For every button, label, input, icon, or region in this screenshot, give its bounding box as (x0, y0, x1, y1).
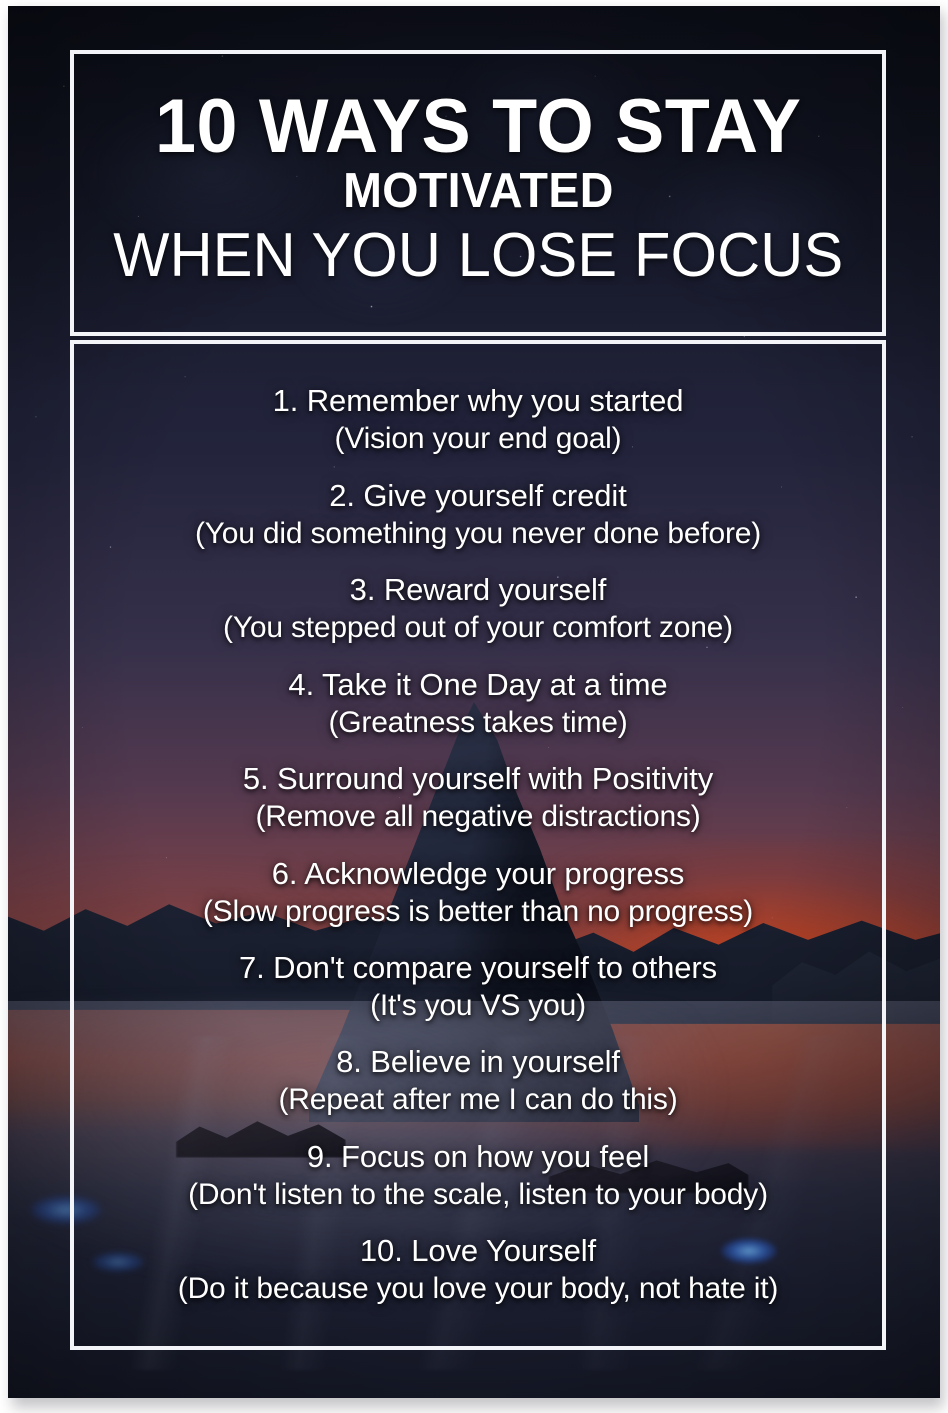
tips-list: 1. Remember why you started (Vision your… (74, 344, 882, 1346)
list-item: 1. Remember why you started (Vision your… (88, 381, 868, 458)
tip-subtext: (Don't listen to the scale, listen to yo… (88, 1176, 868, 1214)
tip-headline: 6. Acknowledge your progress (88, 854, 868, 893)
poster-body: 10 WAYS TO STAY MOTIVATED WHEN YOU LOSE … (8, 6, 940, 1398)
tip-subtext: (You stepped out of your comfort zone) (88, 609, 868, 647)
tip-headline: 5. Surround yourself with Positivity (88, 759, 868, 798)
tip-subtext: (Slow progress is better than no progres… (88, 893, 868, 931)
tip-headline: 9. Focus on how you feel (88, 1137, 868, 1176)
title-line-secondary: MOTIVATED (343, 164, 614, 219)
tip-headline: 1. Remember why you started (88, 381, 868, 420)
tip-headline: 4. Take it One Day at a time (88, 665, 868, 704)
list-item: 9. Focus on how you feel (Don't listen t… (88, 1137, 868, 1214)
tip-subtext: (Remove all negative distractions) (88, 798, 868, 836)
poster-root: 10 WAYS TO STAY MOTIVATED WHEN YOU LOSE … (0, 0, 948, 1413)
title-frame: 10 WAYS TO STAY MOTIVATED WHEN YOU LOSE … (70, 50, 886, 336)
tip-headline: 8. Believe in yourself (88, 1042, 868, 1081)
tip-subtext: (Greatness takes time) (88, 704, 868, 742)
tips-frame: 1. Remember why you started (Vision your… (70, 340, 886, 1350)
list-item: 6. Acknowledge your progress (Slow progr… (88, 854, 868, 931)
list-item: 7. Don't compare yourself to others (It'… (88, 948, 868, 1025)
title-line-tertiary: WHEN YOU LOSE FOCUS (113, 223, 843, 289)
tip-subtext: (You did something you never done before… (88, 515, 868, 553)
list-item: 10. Love Yourself (Do it because you lov… (88, 1231, 868, 1308)
tip-headline: 7. Don't compare yourself to others (88, 948, 868, 987)
tip-headline: 2. Give yourself credit (88, 476, 868, 515)
tip-headline: 10. Love Yourself (88, 1231, 868, 1270)
tip-subtext: (Repeat after me I can do this) (88, 1081, 868, 1119)
list-item: 5. Surround yourself with Positivity (Re… (88, 759, 868, 836)
list-item: 3. Reward yourself (You stepped out of y… (88, 570, 868, 647)
tip-subtext: (It's you VS you) (88, 987, 868, 1025)
tip-headline: 3. Reward yourself (88, 570, 868, 609)
list-item: 8. Believe in yourself (Repeat after me … (88, 1042, 868, 1119)
title-line-primary: 10 WAYS TO STAY (155, 91, 801, 164)
list-item: 4. Take it One Day at a time (Greatness … (88, 665, 868, 742)
title-block: 10 WAYS TO STAY MOTIVATED WHEN YOU LOSE … (74, 54, 882, 332)
content-layer: 10 WAYS TO STAY MOTIVATED WHEN YOU LOSE … (8, 6, 940, 1398)
tip-subtext: (Do it because you love your body, not h… (88, 1270, 868, 1308)
list-item: 2. Give yourself credit (You did somethi… (88, 476, 868, 553)
tip-subtext: (Vision your end goal) (88, 420, 868, 458)
